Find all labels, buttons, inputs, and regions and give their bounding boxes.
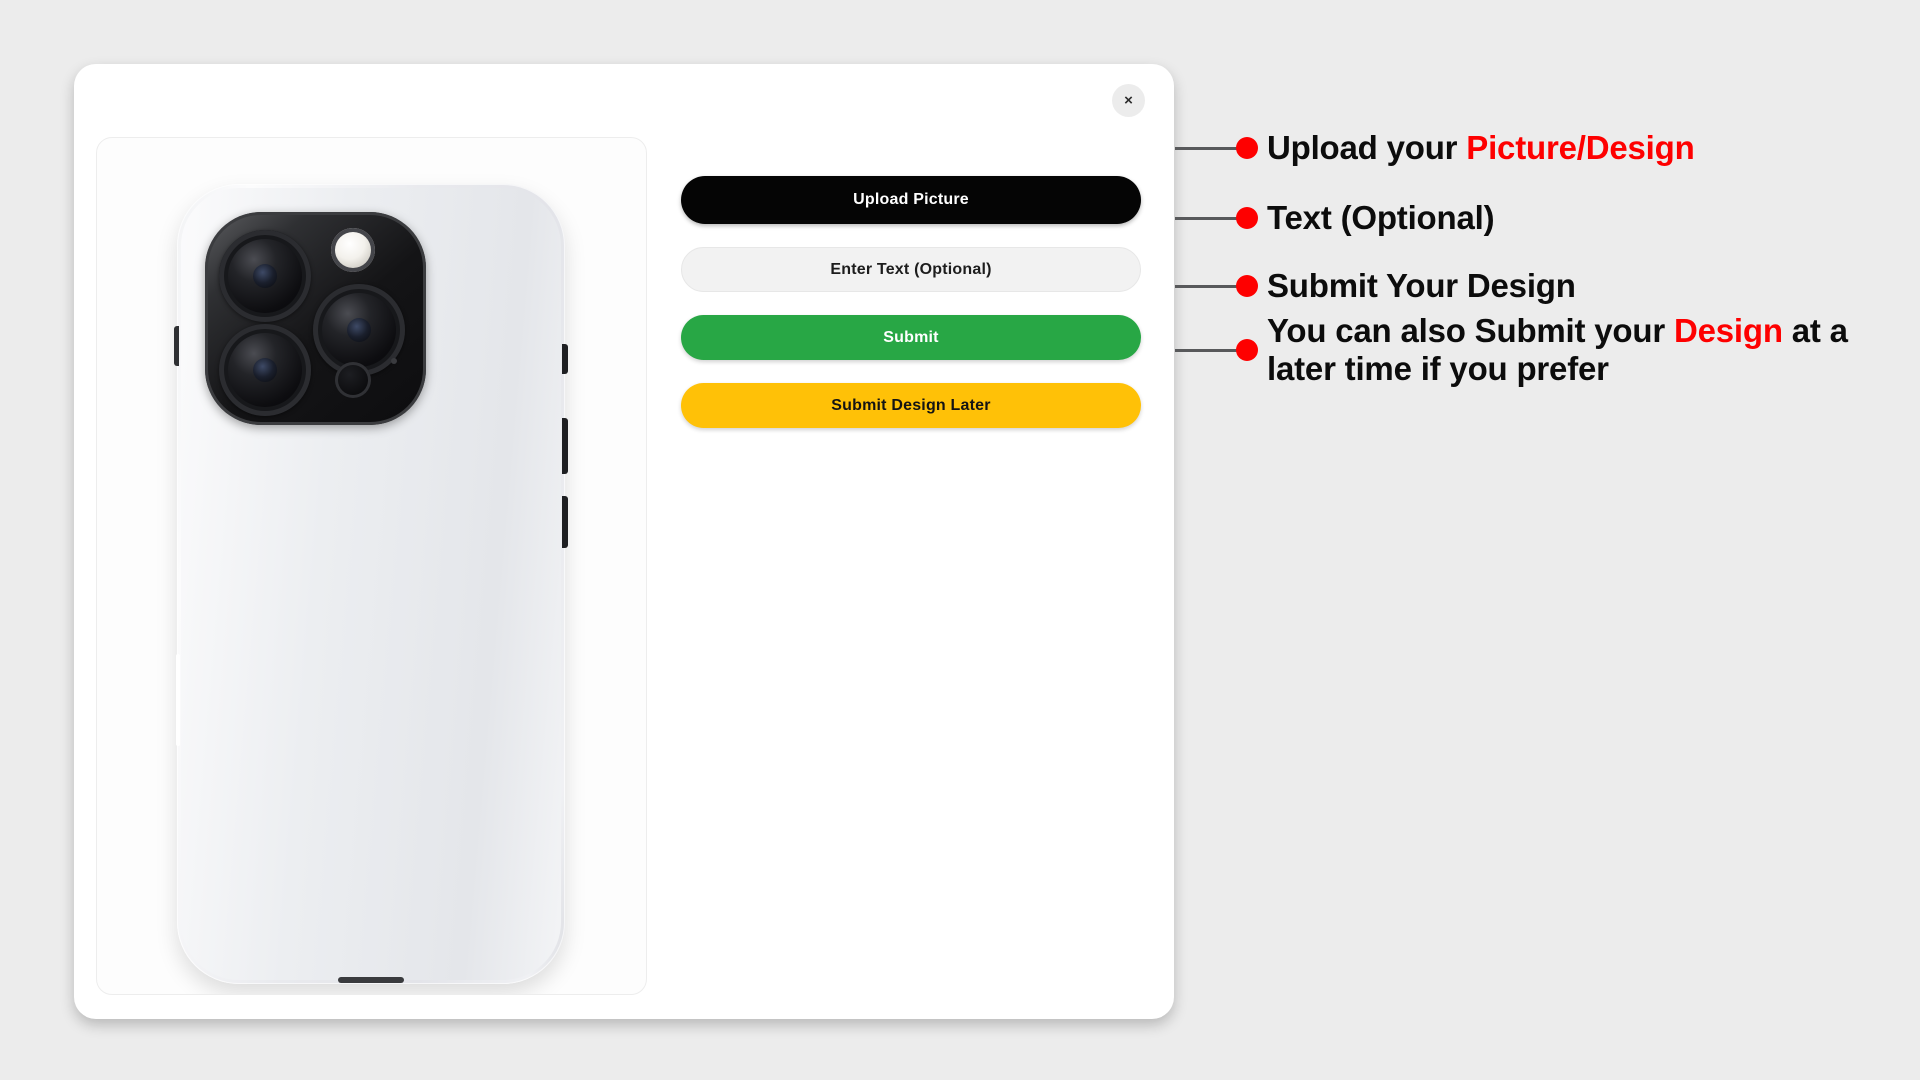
- design-upload-modal: × 2D Mode 3D Mode: [74, 64, 1174, 1019]
- camera-lens-icon: [219, 324, 311, 416]
- bullet-dot-icon: [1236, 275, 1258, 297]
- annotation-upload-prefix: Upload your: [1267, 129, 1466, 166]
- close-icon: ×: [1124, 93, 1133, 108]
- text-input[interactable]: [681, 247, 1141, 292]
- product-preview-panel[interactable]: [96, 137, 647, 995]
- annotation-submit-prefix: Submit Your Design: [1267, 267, 1576, 304]
- submit-design-later-button[interactable]: Submit Design Later: [681, 383, 1141, 428]
- case-side-notch: [176, 654, 180, 746]
- camera-module: [205, 212, 426, 425]
- camera-lens-icon: [219, 230, 311, 322]
- action-button-group: Upload Picture Submit Submit Design Late…: [681, 176, 1141, 428]
- close-button[interactable]: ×: [1112, 84, 1145, 117]
- phone-case-preview: [177, 184, 565, 984]
- annotation-submit-later-text: You can also Submit your Design at a lat…: [1267, 312, 1907, 389]
- camera-flash-icon: [331, 228, 375, 272]
- annotation-submit-later: You can also Submit your Design at a lat…: [1175, 312, 1907, 389]
- annotation-callouts: Upload your Picture/Design Text (Optiona…: [1175, 0, 1920, 1080]
- speaker-cutout: [338, 977, 404, 983]
- volume-up-button: [562, 418, 568, 474]
- leader-line: [1175, 217, 1238, 220]
- annotation-upload-highlight: Picture/Design: [1466, 129, 1694, 166]
- annotation-upload-text: Upload your Picture/Design: [1267, 129, 1695, 167]
- leader-line: [1175, 349, 1238, 352]
- lidar-sensor-icon: [335, 362, 371, 398]
- bullet-dot-icon: [1236, 207, 1258, 229]
- leader-line: [1175, 147, 1238, 150]
- annotation-upload: Upload your Picture/Design: [1175, 129, 1695, 167]
- annotation-text-prefix: Text (Optional): [1267, 199, 1494, 236]
- annotation-later-highlight: Design: [1674, 312, 1783, 349]
- leader-line: [1175, 285, 1238, 288]
- action-side-button: [562, 344, 568, 374]
- annotation-submit: Submit Your Design: [1175, 267, 1576, 305]
- microphone-dot-icon: [391, 358, 397, 364]
- left-side-button: [174, 326, 179, 366]
- upload-picture-button[interactable]: Upload Picture: [681, 176, 1141, 224]
- annotation-later-prefix: You can also Submit your: [1267, 312, 1674, 349]
- submit-button[interactable]: Submit: [681, 315, 1141, 360]
- annotation-text-label: Text (Optional): [1267, 199, 1494, 237]
- bullet-dot-icon: [1236, 339, 1258, 361]
- phone-case-body: [177, 184, 565, 984]
- volume-down-button: [562, 496, 568, 548]
- bullet-dot-icon: [1236, 137, 1258, 159]
- annotation-text: Text (Optional): [1175, 199, 1494, 237]
- annotation-submit-text: Submit Your Design: [1267, 267, 1576, 305]
